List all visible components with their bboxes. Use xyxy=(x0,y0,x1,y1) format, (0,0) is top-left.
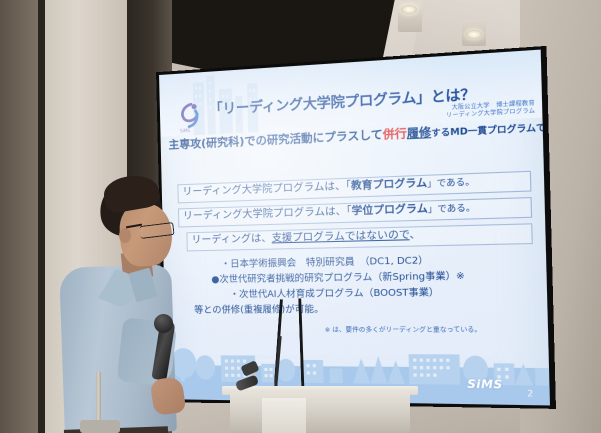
presenter-figure xyxy=(48,180,208,433)
support-suffix: 、 xyxy=(409,229,420,241)
lectern-body xyxy=(230,392,410,433)
statement-box-degree: リーディング大学院プログラムは、「学位プログラム」である。 xyxy=(178,197,532,227)
lead-red-emphasis: 併行 xyxy=(383,127,407,142)
svg-text:SiMS: SiMS xyxy=(180,128,191,134)
wall-column-edge xyxy=(38,0,45,433)
downlight-icon xyxy=(401,5,417,14)
statement-emphasis: 学位プログラム xyxy=(351,204,427,218)
presenter-ear xyxy=(119,228,131,243)
floor-stand-pole xyxy=(96,372,101,424)
presenter-hand xyxy=(150,376,187,416)
lead-underlined: 履修 xyxy=(407,125,432,140)
statement-suffix: 」である。 xyxy=(428,203,476,215)
downlight-icon xyxy=(466,30,482,39)
projection-screen: SiMS 「リーディング大学院プログラム」とは？ 大阪公立大学 博士課程教育 リ… xyxy=(156,46,556,409)
sims-swirl-logo-icon: SiMS xyxy=(173,98,207,134)
statement-emphasis: 教育プログラム xyxy=(351,178,427,192)
statement-prefix: リーディング大学院プログラムは、「 xyxy=(183,206,352,222)
statement-suffix: 」である。 xyxy=(427,177,475,189)
bullet-list: ・日本学術振興会 特別研究員 （DC1, DC2） ●次世代研究者挑戦的研究プロ… xyxy=(193,251,550,318)
slide-page-number: 2 xyxy=(527,389,533,399)
lead-tail: するMD一貫プログラムです。 xyxy=(431,122,550,139)
lectern-front-panel xyxy=(262,398,306,433)
slide-canvas: SiMS 「リーディング大学院プログラム」とは？ 大阪公立大学 博士課程教育 リ… xyxy=(159,50,550,406)
floor-stand-base xyxy=(80,420,120,433)
support-underlined: 支援プログラムではないので xyxy=(272,230,410,245)
wall-column-dark xyxy=(0,0,38,433)
photo-scene: SiMS 「リーディング大学院プログラム」とは？ 大阪公立大学 博士課程教育 リ… xyxy=(0,0,601,433)
statement-box-support: リーディングは、支援プログラムではないので、 xyxy=(186,223,532,251)
slide-footer-logo: SiMS xyxy=(467,378,503,391)
